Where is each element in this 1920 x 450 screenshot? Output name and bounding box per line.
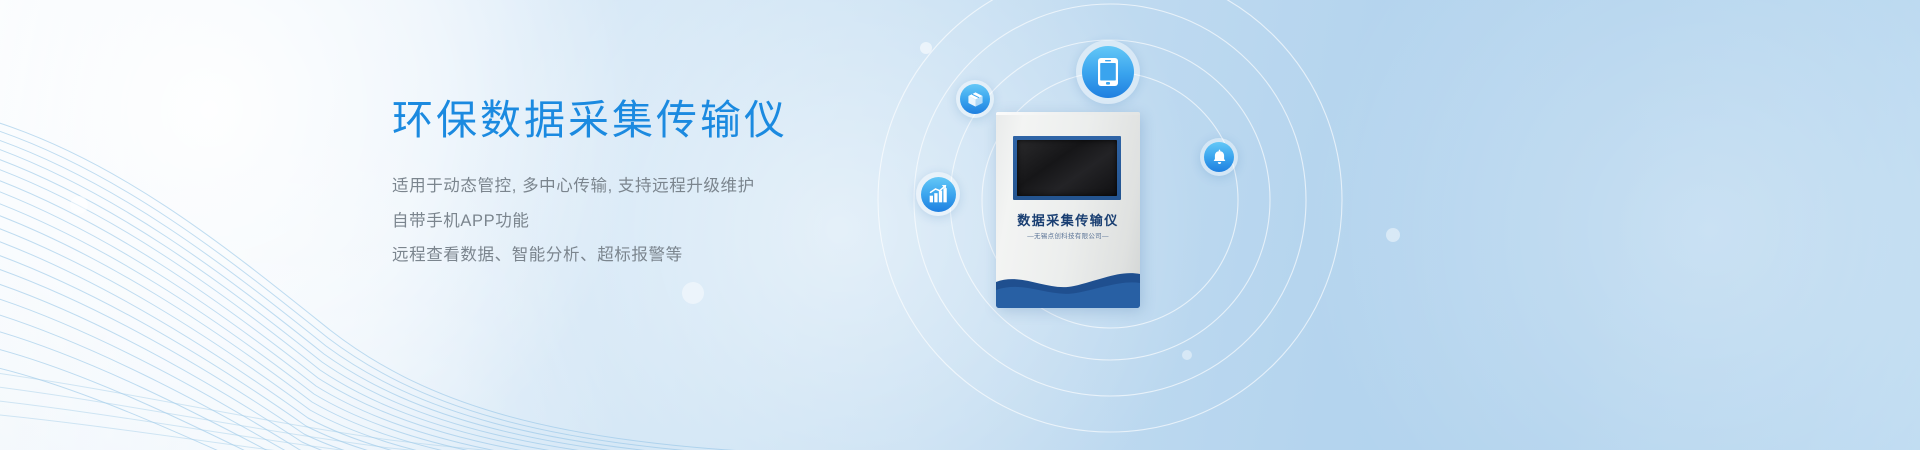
product-banner: 环保数据采集传输仪 适用于动态管控, 多中心传输, 支持远程升级维护 自带手机A… bbox=[0, 0, 1920, 450]
bubble-inner bbox=[1082, 46, 1134, 98]
device-model-label: 数据采集传输仪 bbox=[996, 210, 1140, 229]
device-top-edge bbox=[996, 112, 1140, 115]
alarm-bell-icon bbox=[1211, 149, 1228, 166]
device-screen-frame bbox=[1013, 136, 1121, 200]
mobile-phone-icon bbox=[1097, 57, 1119, 87]
device-company-label: —无锡点创科技有限公司— bbox=[996, 230, 1140, 240]
data-acquisition-device: 数据采集传输仪 —无锡点创科技有限公司— bbox=[996, 112, 1140, 308]
bubble-inner bbox=[1204, 142, 1234, 172]
bubble-bar-chart[interactable] bbox=[916, 172, 960, 216]
bokeh-dot bbox=[70, 196, 88, 214]
package-box-icon bbox=[967, 91, 984, 108]
bar-chart-growth-icon bbox=[928, 184, 948, 204]
device-screen bbox=[1017, 140, 1117, 196]
bubble-inner bbox=[921, 177, 956, 212]
concentric-arc-lines bbox=[860, 0, 1420, 450]
bubble-inner bbox=[960, 84, 990, 114]
bokeh-dot bbox=[682, 282, 704, 304]
device-bottom-wave bbox=[996, 266, 1140, 308]
bubble-alarm-bell[interactable] bbox=[1200, 138, 1238, 176]
bubble-package-box[interactable] bbox=[956, 80, 994, 118]
bubble-mobile-phone[interactable] bbox=[1076, 40, 1140, 104]
product-illustration: 数据采集传输仪 —无锡点创科技有限公司— bbox=[860, 0, 1420, 450]
